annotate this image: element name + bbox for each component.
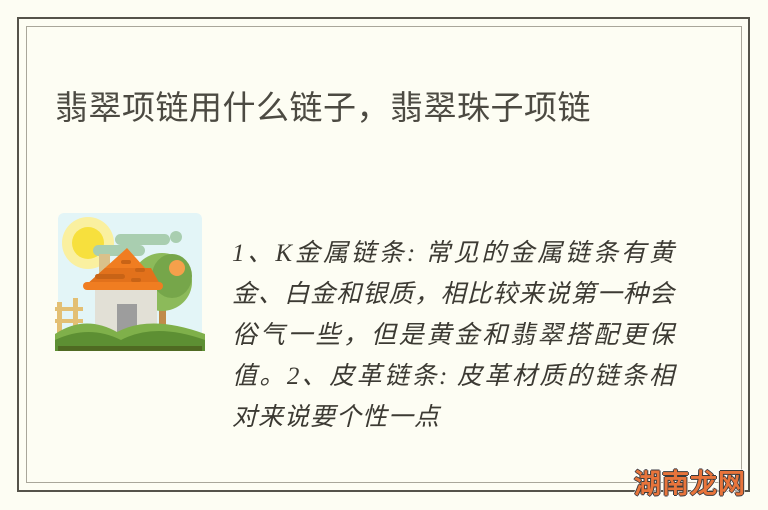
page-root: 翡翠项链用什么链子，翡翠珠子项链	[0, 0, 768, 510]
site-watermark: 湖南龙网	[634, 471, 746, 498]
page-title: 翡翠项链用什么链子，翡翠珠子项链	[55, 84, 675, 131]
house-landscape-illustration	[55, 210, 205, 360]
article-text: 1、K金属链条: 常见的金属链条有黄金、白金和银质，相比较来说第一种会俗气一些，…	[232, 233, 675, 438]
article-body: 1、K金属链条: 常见的金属链条有黄金、白金和银质，相比较来说第一种会俗气一些，…	[55, 208, 675, 458]
article-thumbnail	[55, 210, 205, 360]
